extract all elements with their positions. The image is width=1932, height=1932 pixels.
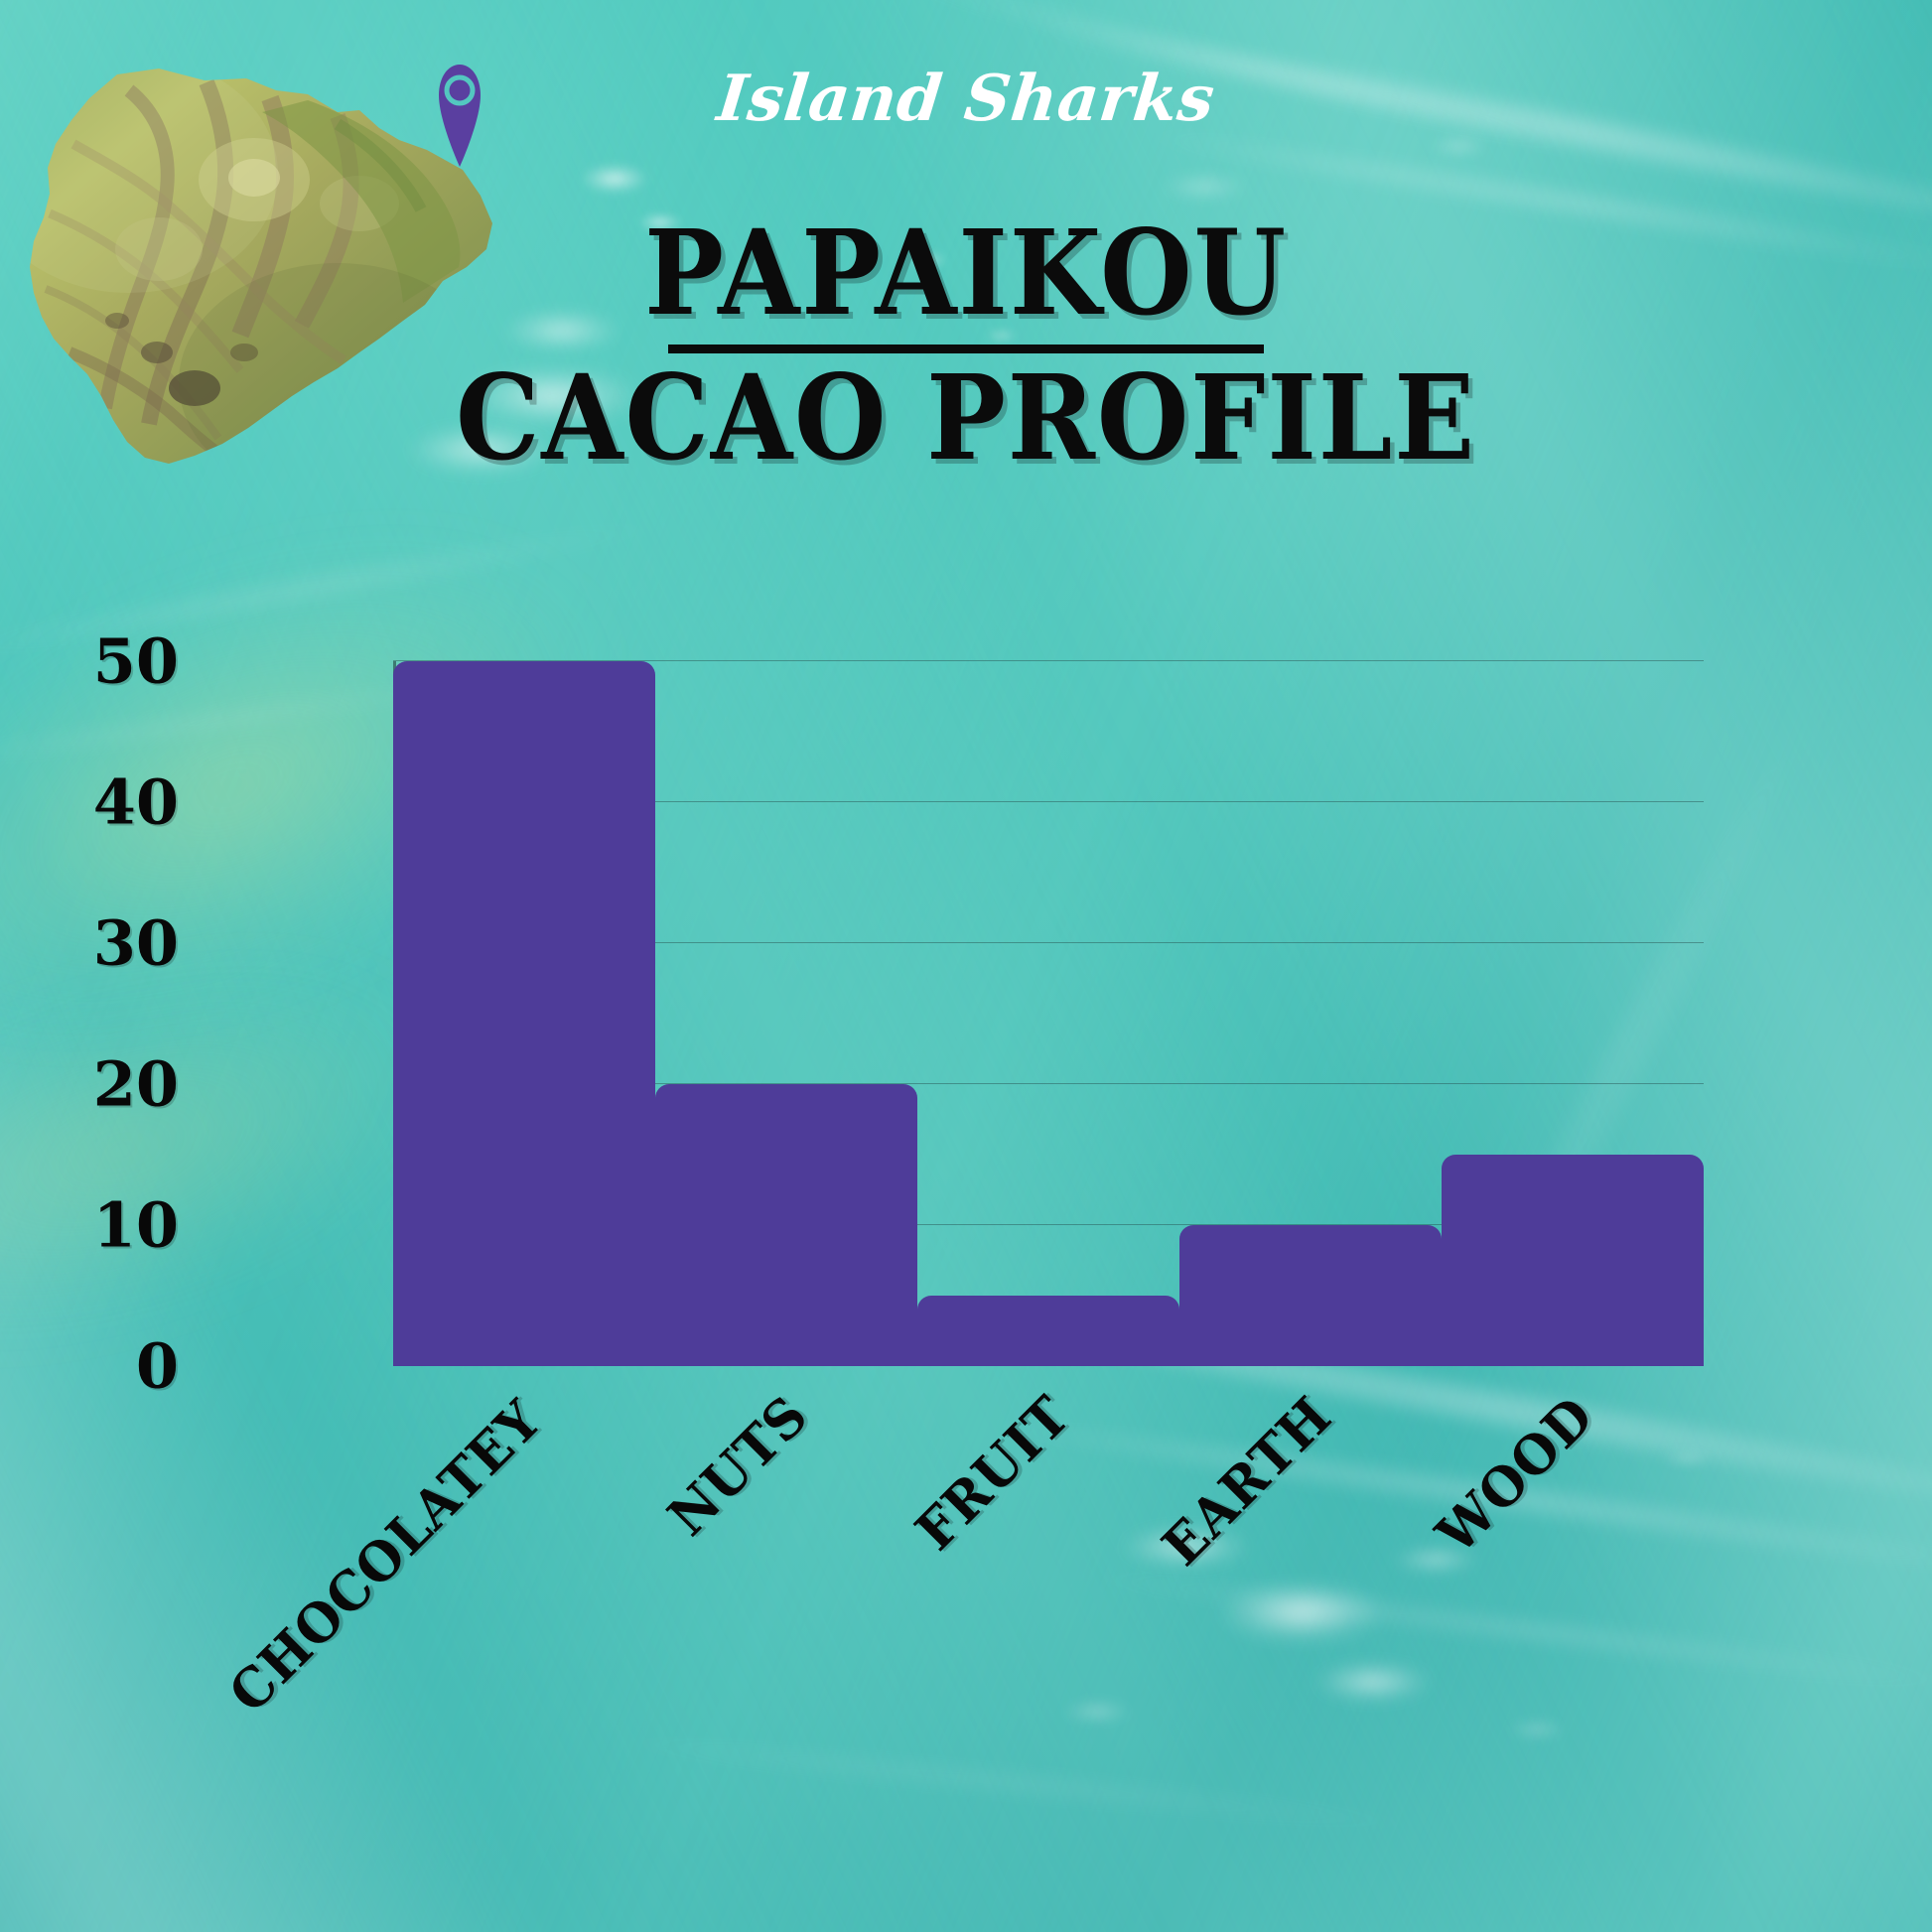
x-axis-tick-labels: CHOCOLATEYNUTSFRUITEARTHWOOD bbox=[393, 1380, 1704, 1797]
x-tick-slot: WOOD bbox=[1442, 1380, 1704, 1797]
y-tick-label: 30 bbox=[0, 907, 179, 980]
chart-bars bbox=[393, 661, 1704, 1366]
cacao-profile-bar-chart: 01020304050 CHOCOLATEYNUTSFRUITEARTHWOOD bbox=[0, 0, 1932, 1932]
x-tick-slot: FRUIT bbox=[917, 1380, 1179, 1797]
y-tick-label: 40 bbox=[0, 766, 179, 839]
y-tick-label: 10 bbox=[0, 1189, 179, 1262]
y-tick-label: 50 bbox=[0, 625, 179, 698]
y-tick-label: 20 bbox=[0, 1048, 179, 1121]
x-tick-slot: NUTS bbox=[655, 1380, 917, 1797]
bar-chocolatey[interactable] bbox=[393, 661, 655, 1366]
chart-plot-area bbox=[393, 661, 1704, 1366]
x-tick-slot: EARTH bbox=[1179, 1380, 1442, 1797]
y-tick-label: 0 bbox=[0, 1330, 179, 1403]
bar-slot bbox=[393, 661, 655, 1366]
bar-slot bbox=[1179, 661, 1442, 1366]
x-tick-slot: CHOCOLATEY bbox=[393, 1380, 655, 1797]
bar-slot bbox=[917, 661, 1179, 1366]
